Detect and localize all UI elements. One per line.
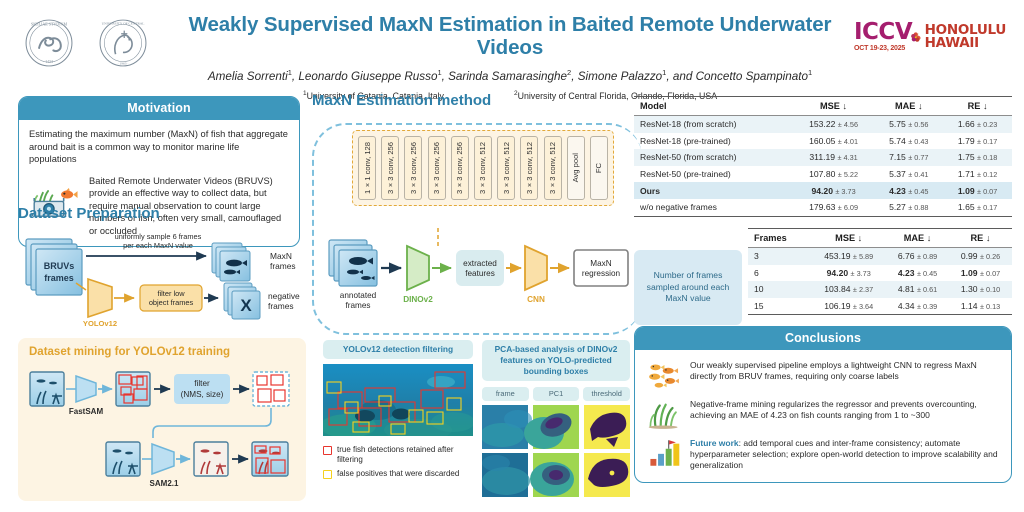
author-1: Leonardo Giuseppe Russo <box>298 70 437 83</box>
cell-mse-sd: ± 4.01 <box>838 137 858 146</box>
table-row: 10 103.84 ± 2.37 4.81 ± 0.61 1.30 ± 0.10 <box>748 281 1012 298</box>
table-header-row: Frames MSE ↓ MAE ↓ RE ↓ <box>748 229 1012 248</box>
author-4: and Concetto Spampinato <box>673 70 808 83</box>
legend-item-true-detections: true fish detections retained after filt… <box>323 445 473 465</box>
cell-re-value: 1.65 <box>958 202 975 212</box>
cell-mae: 5.37 ± 0.41 <box>874 166 943 183</box>
cell-re: 1.09 ± 0.07 <box>949 265 1012 282</box>
cell-re-value: 1.71 <box>958 169 975 179</box>
th-mae: MAE ↓ <box>886 229 949 248</box>
cell-re: 1.75 ± 0.18 <box>943 149 1012 166</box>
poster-header: SICILIAE STVDIVM · 1434 · UNIVERSITY OF … <box>0 0 1024 88</box>
cell-mae-value: 4.23 <box>898 268 915 278</box>
cell-mae: 4.23 ± 0.45 <box>886 265 949 282</box>
motivation-paragraph-1: Estimating the maximum number (MaxN) of … <box>29 128 289 166</box>
th-re: RE ↓ <box>943 97 1012 116</box>
cell-mse: 179.63 ± 6.09 <box>793 199 875 216</box>
svg-text:· 1963 ·: · 1963 · <box>118 62 129 66</box>
cnn-layer-0-label: 1×1 conv, 128 <box>363 142 372 194</box>
cell-mae-sd: ± 0.39 <box>917 302 937 311</box>
cnn-architecture-strip: 1×1 conv, 128 3×3 conv, 256 3×3 conv, 25… <box>352 130 614 206</box>
cell-mae: 4.81 ± 0.61 <box>886 281 949 298</box>
cnn-layer-5: 3×3 conv, 512 <box>474 136 492 200</box>
cell-mae: 6.76 ± 0.89 <box>886 248 949 265</box>
cnn-layer-fc-label: FC <box>594 163 603 173</box>
cell-frames: 15 <box>748 298 811 315</box>
conclusions-panel: Conclusions Our weakly supervised pipeli… <box>634 326 1012 483</box>
svg-text:CNN: CNN <box>527 295 545 304</box>
author-2-sup: 2 <box>567 68 571 77</box>
table-row: 3 453.19 ± 5.89 6.76 ± 0.89 0.99 ± 0.26 <box>748 248 1012 265</box>
cell-mse: 94.20 ± 3.73 <box>793 182 875 199</box>
cell-re-value: 0.99 <box>961 251 978 261</box>
svg-text:frames: frames <box>270 261 296 271</box>
cell-re-value: 1.09 <box>961 268 978 278</box>
iccv-name: ICCV <box>854 22 912 44</box>
table-row: ResNet-18 (from scratch) 153.22 ± 4.56 5… <box>634 116 1012 133</box>
dataset-mining-diagram: FastSAM filter (NMS, size) <box>18 362 306 498</box>
cell-mse-sd: ± 4.31 <box>837 153 857 162</box>
frames-table-caption: Number of frames sampled around each Max… <box>634 250 742 325</box>
legend-swatch-red <box>323 446 332 455</box>
cell-mae-value: 7.15 <box>889 152 906 162</box>
cell-mse: 103.84 ± 2.37 <box>811 281 886 298</box>
cell-mse-sd: ± 2.37 <box>853 285 873 294</box>
ucf-seal-logo: UNIVERSITY OF CENTRAL · 1963 · <box>92 12 154 74</box>
dataset-preparation-diagram: BRUVs frames uniformly sample 6 frames p… <box>18 227 302 327</box>
cell-re-value: 1.09 <box>958 186 975 196</box>
cnn-layer-1-label: 3×3 conv, 256 <box>386 142 395 194</box>
cell-re-sd: ± 0.12 <box>977 170 997 179</box>
table-row-ours: Ours 94.20 ± 3.73 4.23 ± 0.45 1.09 ± 0.0… <box>634 182 1012 199</box>
cnn-layer-3-label: 3×3 conv, 256 <box>432 142 441 194</box>
cell-mse: 160.05 ± 4.01 <box>793 133 875 150</box>
table-row: ResNet-50 (pre-trained) 107.80 ± 5.22 5.… <box>634 166 1012 183</box>
legend-label-false-positives: false positives that were discarded <box>337 469 459 479</box>
svg-text:annotated: annotated <box>340 291 377 300</box>
cell-mse-sd: ± 4.56 <box>838 120 858 129</box>
cell-re-value: 1.66 <box>958 119 975 129</box>
cell-mae-sd: ± 0.45 <box>908 187 928 196</box>
cell-mae-sd: ± 0.45 <box>917 269 937 278</box>
cell-mse-value: 153.22 <box>809 119 835 129</box>
iccv-dates: OCT 19-23, 2025 <box>854 45 905 52</box>
cell-mae-sd: ± 0.88 <box>908 203 928 212</box>
svg-text:SICILIAE STVDIVM: SICILIAE STVDIVM <box>31 22 67 27</box>
th-frames: Frames <box>748 229 811 248</box>
cell-mae-sd: ± 0.43 <box>908 137 928 146</box>
cnn-layer-6: 3×3 conv, 512 <box>497 136 515 200</box>
cell-mse-sd: ± 3.73 <box>835 187 855 196</box>
cell-model: w/o negative frames <box>634 199 793 216</box>
cell-frames: 6 <box>748 265 811 282</box>
conclusion-item-0: Our weakly supervised pipeline employs a… <box>647 360 999 390</box>
cell-mae-sd: ± 0.89 <box>917 252 937 261</box>
svg-text:negative: negative <box>268 291 300 301</box>
cell-frames: 3 <box>748 248 811 265</box>
conclusions-body: Our weakly supervised pipeline employs a… <box>635 350 1011 482</box>
conclusion-text-2: Future work: add temporal cues and inter… <box>690 438 999 471</box>
cell-re-value: 1.30 <box>961 284 978 294</box>
dataset-preparation-heading: Dataset Preparation <box>18 205 302 222</box>
cell-mae: 5.74 ± 0.43 <box>874 133 943 150</box>
svg-text:· 1434 ·: · 1434 · <box>43 60 55 64</box>
poster-canvas: SICILIAE STVDIVM · 1434 · UNIVERSITY OF … <box>0 0 1024 512</box>
svg-text:DINOv2: DINOv2 <box>403 295 433 304</box>
iccv-state: HAWAII <box>925 37 1006 50</box>
cell-mae: 5.75 ± 0.56 <box>874 116 943 133</box>
pca-image-grid <box>482 405 630 497</box>
future-work-label: Future work <box>690 438 739 448</box>
cnn-layer-2: 3×3 conv, 256 <box>404 136 422 200</box>
page-title: Weakly Supervised MaxN Estimation in Bai… <box>170 14 850 59</box>
cell-re-sd: ± 0.13 <box>980 302 1000 311</box>
cell-re-sd: ± 0.07 <box>977 187 997 196</box>
cell-mae-value: 4.34 <box>898 301 915 311</box>
cell-re-value: 1.75 <box>958 152 975 162</box>
cell-mse-value: 453.19 <box>824 251 850 261</box>
pca-col-frame: frame <box>482 387 529 401</box>
svg-text:filter: filter <box>194 379 210 388</box>
cell-re-sd: ± 0.26 <box>980 252 1000 261</box>
cell-model: ResNet-50 (pre-trained) <box>634 166 793 183</box>
author-3: Simone Palazzo <box>578 70 662 83</box>
cell-mse: 107.80 ± 5.22 <box>793 166 875 183</box>
cell-mse: 311.19 ± 4.31 <box>793 149 875 166</box>
cnn-layer-8-label: 3×3 conv, 512 <box>548 142 557 194</box>
author-2: Sarinda Samarasinghe <box>448 70 567 83</box>
svg-text:extracted: extracted <box>463 259 497 268</box>
cell-mae-value: 6.76 <box>898 251 915 261</box>
yolo-detection-image <box>323 364 473 436</box>
table-row: ResNet-50 (from scratch) 311.19 ± 4.31 7… <box>634 149 1012 166</box>
table-row: 15 106.19 ± 3.64 4.34 ± 0.39 1.14 ± 0.13 <box>748 298 1012 315</box>
svg-text:BRUVs: BRUVs <box>44 261 75 271</box>
cell-mae: 5.27 ± 0.88 <box>874 199 943 216</box>
svg-text:frames: frames <box>268 301 294 311</box>
cell-mse-value: 103.84 <box>824 284 850 294</box>
cell-mae-value: 5.74 <box>889 136 906 146</box>
legend-swatch-yellow <box>323 470 332 479</box>
dataset-preparation-panel: Dataset Preparation BRUVs frames unifo <box>18 205 302 327</box>
svg-text:regression: regression <box>582 269 621 278</box>
cnn-layer-8: 3×3 conv, 512 <box>544 136 562 200</box>
iccv-location: HONOLULU HAWAII <box>925 24 1006 50</box>
cell-mae-sd: ± 0.56 <box>908 120 928 129</box>
conclusions-heading: Conclusions <box>635 327 1011 350</box>
cnn-layer-4-label: 3×3 conv, 256 <box>455 142 464 194</box>
cnn-layer-3: 3×3 conv, 256 <box>428 136 446 200</box>
hibiscus-flower-icon <box>910 19 922 55</box>
legend-label-true-detections: true fish detections retained after filt… <box>337 445 473 465</box>
cnn-layer-7: 3×3 conv, 512 <box>520 136 538 200</box>
cell-mae: 4.23 ± 0.45 <box>874 182 943 199</box>
cell-mse-sd: ± 5.89 <box>853 252 873 261</box>
cell-mse: 94.20 ± 3.73 <box>811 265 886 282</box>
th-mae: MAE ↓ <box>874 97 943 116</box>
cnn-layer-2-label: 3×3 conv, 256 <box>409 142 418 194</box>
cell-re-sd: ± 0.17 <box>977 203 997 212</box>
cell-mse-value: 179.63 <box>809 202 835 212</box>
svg-text:features: features <box>465 269 495 278</box>
cell-re-sd: ± 0.17 <box>977 137 997 146</box>
cell-mse-sd: ± 5.22 <box>838 170 858 179</box>
cnn-layer-4: 3×3 conv, 256 <box>451 136 469 200</box>
cell-mse: 153.22 ± 4.56 <box>793 116 875 133</box>
cell-mse-value: 106.19 <box>824 301 850 311</box>
cell-model: ResNet-18 (from scratch) <box>634 116 793 133</box>
svg-text:YOLOv12: YOLOv12 <box>83 319 117 327</box>
maxn-pipeline-diagram: annotated frames DINOv2 extracted featur… <box>325 228 635 314</box>
svg-text:filter low: filter low <box>157 289 185 298</box>
cell-mae-value: 4.81 <box>898 284 915 294</box>
cell-re: 1.14 ± 0.13 <box>949 298 1012 315</box>
seaweed-icon <box>647 399 681 429</box>
cell-re-sd: ± 0.23 <box>977 120 997 129</box>
table-row: ResNet-18 (pre-trained) 160.05 ± 4.01 5.… <box>634 133 1012 150</box>
cell-mse-value: 311.19 <box>809 152 835 162</box>
school-of-fish-icon <box>647 360 681 390</box>
cnn-layer-5-label: 3×3 conv, 512 <box>478 142 487 194</box>
pca-analysis-panel: PCA-based analysis of DINOv2 features on… <box>482 340 630 502</box>
cell-mae-sd: ± 0.61 <box>917 285 937 294</box>
cell-mae-sd: ± 0.41 <box>908 170 928 179</box>
cell-frames: 10 <box>748 281 811 298</box>
cell-re: 1.30 ± 0.10 <box>949 281 1012 298</box>
cell-re-sd: ± 0.18 <box>977 153 997 162</box>
cnn-layer-fc: FC <box>590 136 608 200</box>
cell-mae: 4.34 ± 0.39 <box>886 298 949 315</box>
cnn-layer-0: 1×1 conv, 128 <box>358 136 376 200</box>
maxn-method-heading: MaxN Estimation method <box>312 92 630 109</box>
conclusion-text-1: Negative-frame mining regularizes the re… <box>690 399 999 421</box>
th-mse: MSE ↓ <box>793 97 875 116</box>
author-1-sup: 1 <box>437 68 441 77</box>
cell-re-value: 1.14 <box>961 301 978 311</box>
models-table: Model MSE ↓ MAE ↓ RE ↓ ResNet-18 (from s… <box>634 96 1012 217</box>
cell-mae-value: 4.23 <box>889 186 906 196</box>
author-list: Amelia Sorrenti1, Leonardo Giuseppe Russ… <box>170 68 850 83</box>
author-3-sup: 1 <box>662 68 666 77</box>
cnn-layer-avgpool-label: Avg pool <box>571 153 580 182</box>
svg-text:MaxN: MaxN <box>590 259 611 268</box>
table-row: w/o negative frames 179.63 ± 6.09 5.27 ±… <box>634 199 1012 216</box>
cell-mse-value: 94.20 <box>811 186 833 196</box>
cell-re: 1.71 ± 0.12 <box>943 166 1012 183</box>
cell-mse-value: 107.80 <box>809 169 835 179</box>
svg-text:UNIVERSITY OF CENTRAL: UNIVERSITY OF CENTRAL <box>102 21 145 25</box>
iccv-wordmark: ICCV OCT 19-23, 2025 <box>854 22 912 52</box>
cell-mse-sd: ± 6.09 <box>838 203 858 212</box>
cnn-layer-avgpool: Avg pool <box>567 136 585 200</box>
pca-col-pc1: PC1 <box>533 387 580 401</box>
author-0: Amelia Sorrenti <box>208 70 288 83</box>
cnn-layer-1: 3×3 conv, 256 <box>381 136 399 200</box>
svg-text:(NMS, size): (NMS, size) <box>181 390 224 399</box>
title-block: Weakly Supervised MaxN Estimation in Bai… <box>170 14 850 101</box>
conclusion-item-2: Future work: add temporal cues and inter… <box>647 438 999 471</box>
svg-text:FastSAM: FastSAM <box>69 407 104 416</box>
yolo-filtering-panel: YOLOv12 detection filtering <box>323 340 473 502</box>
svg-text:object frames: object frames <box>149 298 194 307</box>
cell-mae-value: 5.27 <box>889 202 906 212</box>
cell-mae: 7.15 ± 0.77 <box>874 149 943 166</box>
svg-text:X: X <box>240 296 252 315</box>
cell-re: 0.99 ± 0.26 <box>949 248 1012 265</box>
pca-analysis-heading: PCA-based analysis of DINOv2 features on… <box>482 340 630 381</box>
cell-re-sd: ± 0.10 <box>980 285 1000 294</box>
iccv-conference-logo: ICCV OCT 19-23, 2025 HONOLULU HAWAII <box>854 14 1006 60</box>
results-table-models: Model MSE ↓ MAE ↓ RE ↓ ResNet-18 (from s… <box>634 96 1012 217</box>
cell-re: 1.79 ± 0.17 <box>943 133 1012 150</box>
cell-mse-value: 94.20 <box>827 268 849 278</box>
th-model: Model <box>634 97 793 116</box>
svg-text:per each MaxN value: per each MaxN value <box>123 241 193 250</box>
frames-table: Frames MSE ↓ MAE ↓ RE ↓ 3 453.19 ± 5.89 … <box>748 228 1012 315</box>
yolo-filtering-heading: YOLOv12 detection filtering <box>323 340 473 359</box>
svg-text:MaxN: MaxN <box>270 251 292 261</box>
table-header-row: Model MSE ↓ MAE ↓ RE ↓ <box>634 97 1012 116</box>
results-table-frames: Frames MSE ↓ MAE ↓ RE ↓ 3 453.19 ± 5.89 … <box>748 228 1012 315</box>
motivation-heading: Motivation <box>19 97 299 120</box>
pca-column-headers: frame PC1 threshold <box>482 387 630 401</box>
cnn-layer-6-label: 3×3 conv, 512 <box>502 142 511 194</box>
cell-mse-sd: ± 3.64 <box>853 302 873 311</box>
dataset-mining-heading: Dataset mining for YOLOv12 training <box>18 338 306 358</box>
legend-item-false-positives: false positives that were discarded <box>323 469 473 479</box>
cell-model: Ours <box>634 182 793 199</box>
bar-chart-flag-icon <box>647 438 681 468</box>
cell-re-sd: ± 0.07 <box>980 269 1000 278</box>
th-re: RE ↓ <box>949 229 1012 248</box>
svg-text:SAM2.1: SAM2.1 <box>150 479 179 488</box>
th-mse: MSE ↓ <box>811 229 886 248</box>
pca-col-threshold: threshold <box>583 387 630 401</box>
cell-re: 1.65 ± 0.17 <box>943 199 1012 216</box>
cell-mse: 106.19 ± 3.64 <box>811 298 886 315</box>
conclusion-text-0: Our weakly supervised pipeline employs a… <box>690 360 999 382</box>
cell-mae-sd: ± 0.77 <box>908 153 928 162</box>
cell-model: ResNet-18 (pre-trained) <box>634 133 793 150</box>
author-0-sup: 1 <box>288 68 292 77</box>
svg-text:frames: frames <box>345 301 370 310</box>
cell-mse: 453.19 ± 5.89 <box>811 248 886 265</box>
table-row-best: 6 94.20 ± 3.73 4.23 ± 0.45 1.09 ± 0.07 <box>748 265 1012 282</box>
unict-seal-logo: SICILIAE STVDIVM · 1434 · <box>18 12 80 74</box>
conclusion-item-1: Negative-frame mining regularizes the re… <box>647 399 999 429</box>
cell-re: 1.66 ± 0.23 <box>943 116 1012 133</box>
cell-re: 1.09 ± 0.07 <box>943 182 1012 199</box>
cell-mse-value: 160.05 <box>809 136 835 146</box>
cell-model: ResNet-50 (from scratch) <box>634 149 793 166</box>
svg-text:frames: frames <box>44 273 74 283</box>
svg-text:uniformly sample 6 frames: uniformly sample 6 frames <box>115 232 202 241</box>
cell-mae-value: 5.37 <box>889 169 906 179</box>
cell-mae-value: 5.75 <box>889 119 906 129</box>
cell-mse-sd: ± 3.73 <box>851 269 871 278</box>
cell-re-value: 1.79 <box>958 136 975 146</box>
cnn-layer-7-label: 3×3 conv, 512 <box>525 142 534 194</box>
author-4-sup: 1 <box>808 68 812 77</box>
dataset-mining-panel: Dataset mining for YOLOv12 training <box>18 338 306 501</box>
